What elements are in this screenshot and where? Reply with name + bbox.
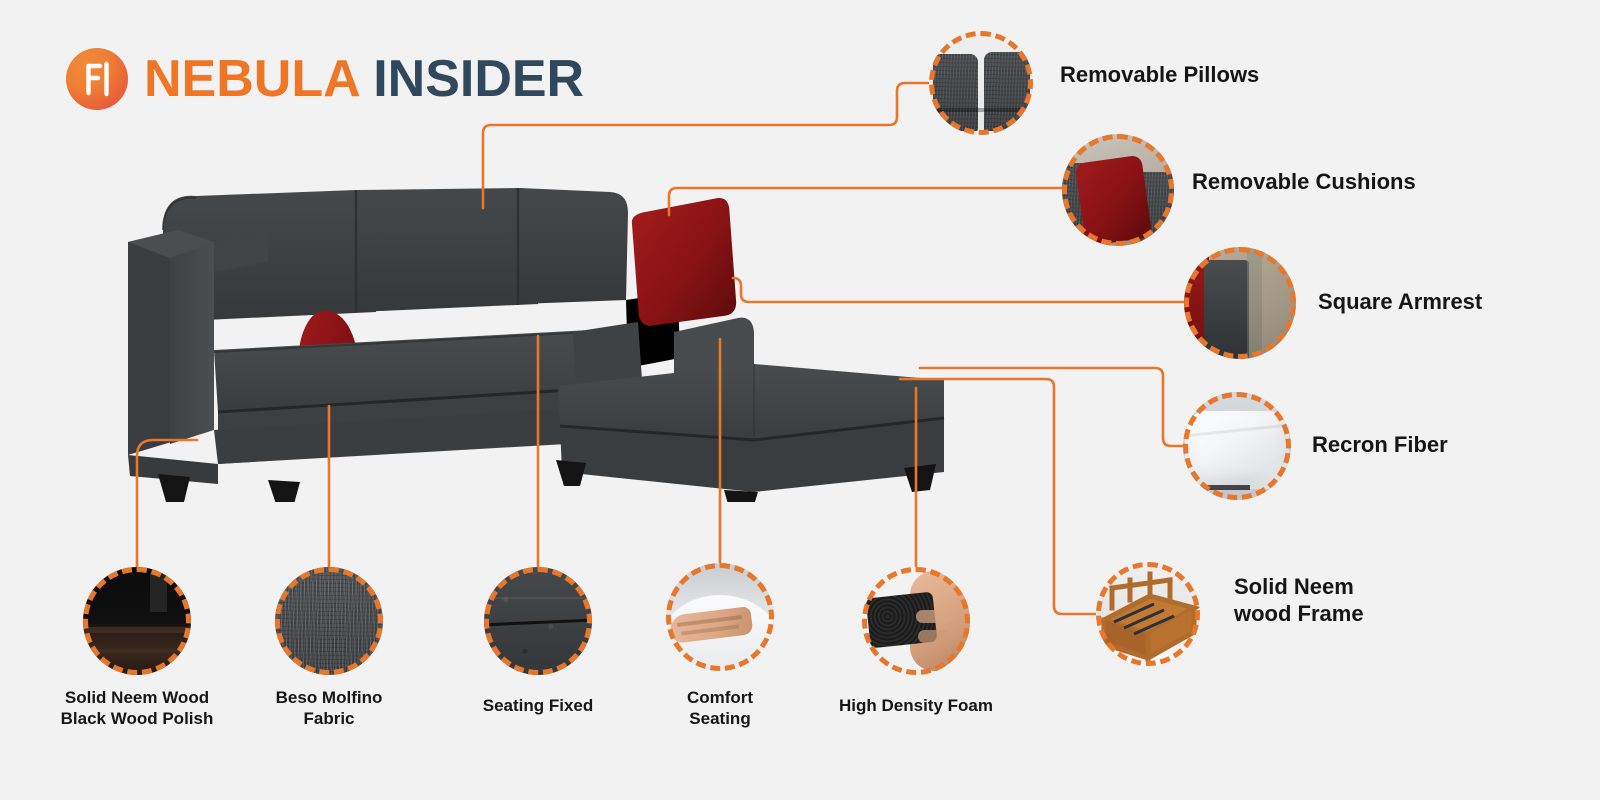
brand-header: NEBULA INSIDER (66, 48, 584, 110)
callout-ring-solid-neem-wood-black-wood-polish (83, 567, 191, 675)
callout-label-line1: High Density Foam (779, 696, 1053, 717)
callout-ring-solid-neem-wood-frame (1096, 562, 1200, 666)
nebula-chair-logo-icon (66, 48, 128, 110)
callout-ring-recron-fiber (1183, 392, 1291, 500)
callout-ring-high-density-foam (862, 567, 970, 675)
product-image-sectional-sofa (118, 172, 968, 502)
callout-label-square-armrest: Square Armrest (1318, 289, 1600, 316)
callout-label-removable-cushions: Removable Cushions (1192, 169, 1552, 196)
callout-ring-seating-fixed (484, 567, 592, 675)
callout-ring-square-armrest (1184, 247, 1296, 359)
callout-label-removable-pillows: Removable Pillows (1060, 62, 1390, 89)
brand-word-nebula: NEBULA (144, 50, 359, 108)
infographic-canvas: NEBULA INSIDER (0, 0, 1600, 800)
callout-label-solid-neem-wood-frame: Solid Neem wood Frame (1234, 574, 1534, 628)
callout-label-recron-fiber: Recron Fiber (1312, 432, 1600, 459)
callout-label-line2: wood Frame (1234, 601, 1534, 628)
callout-label-high-density-foam: High Density Foam (779, 696, 1053, 717)
brand-word-insider: INSIDER (373, 50, 584, 108)
page-title: NEBULA INSIDER (144, 53, 584, 105)
callout-label-line1: Solid Neem (1234, 574, 1534, 601)
callout-ring-beso-molfino-fabric (275, 567, 383, 675)
callout-ring-removable-cushions (1062, 134, 1174, 246)
callout-ring-comfort-seating (666, 563, 774, 671)
callout-ring-removable-pillows (929, 31, 1033, 135)
